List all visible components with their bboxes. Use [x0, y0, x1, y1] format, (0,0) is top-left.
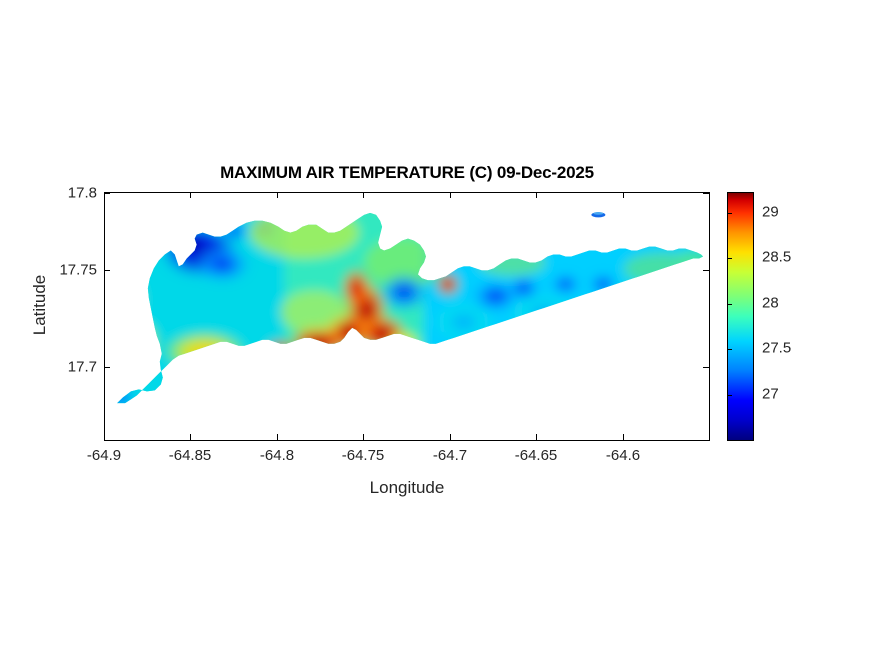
page-title: MAXIMUM AIR TEMPERATURE (C) 09-Dec-2025	[104, 163, 710, 183]
ytick-label-0: 17.7	[68, 359, 97, 376]
y-axis-label: Latitude	[30, 245, 50, 365]
colorbar-label-28: 28	[762, 295, 779, 312]
colorbar-label-27: 27	[762, 386, 779, 403]
x-axis-label: Longitude	[104, 478, 710, 498]
temperature-map-figure: MAXIMUM AIR TEMPERATURE (C) 09-Dec-2025	[0, 0, 875, 656]
map-plot-area	[104, 192, 710, 441]
interpolated-temperature-surface	[105, 193, 709, 440]
colorbar	[727, 192, 754, 441]
colorbar-label-27-5: 27.5	[762, 340, 791, 357]
colorbar-gradient	[728, 193, 753, 440]
colorbar-label-28-5: 28.5	[762, 249, 791, 266]
xtick-label-2: -64.8	[260, 447, 294, 464]
xtick-label-6: -64.6	[606, 447, 640, 464]
colorbar-label-29: 29	[762, 204, 779, 221]
xtick-label-3: -64.75	[342, 447, 385, 464]
offshore-islet	[591, 212, 605, 217]
ytick-label-1: 17.75	[59, 262, 97, 279]
ytick-label-2: 17.8	[68, 185, 97, 202]
xtick-label-5: -64.65	[515, 447, 558, 464]
xtick-label-4: -64.7	[433, 447, 467, 464]
xtick-label-1: -64.85	[169, 447, 212, 464]
